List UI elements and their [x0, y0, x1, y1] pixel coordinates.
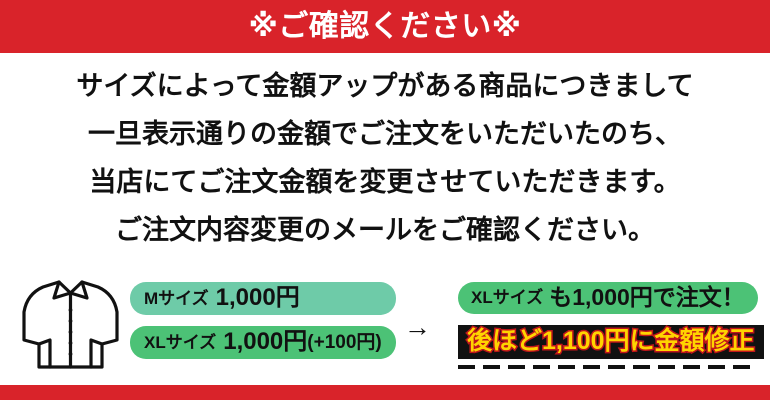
dashed-underline [458, 365, 758, 369]
size-label: XLサイズ [144, 334, 216, 351]
arrow-right-icon: → [404, 314, 431, 341]
order-note-amount: も1,000円で注文！ [549, 286, 745, 309]
price-pill-m: Mサイズ 1,000円 [130, 282, 396, 315]
notice-line: 当店にてご注文金額を変更させていただきます。 [89, 158, 680, 206]
dress-shirt-icon [18, 272, 123, 372]
size-label: XLサイズ [471, 289, 543, 306]
notice-line: ご注文内容変更のメールをご確認ください。 [115, 206, 655, 254]
size-label: Mサイズ [144, 290, 209, 307]
header-band: ※ご確認ください※ [0, 0, 770, 53]
notice-body: サイズによって金額アップがある商品につきまして 一旦表示通りの金額でご注文をいた… [0, 62, 770, 254]
price-extra: (+100円) [307, 333, 381, 352]
before-price-list: Mサイズ 1,000円 XLサイズ 1,000円 (+100円) [130, 282, 396, 359]
correction-note-text: 後ほど1,100円に金額修正 [467, 327, 755, 355]
notice-line: 一旦表示通りの金額でご注文をいただいたのち、 [88, 110, 682, 158]
page-title: ※ご確認ください※ [249, 12, 522, 42]
price-amount: 1,000円 [216, 286, 300, 310]
price-amount: 1,000円 [223, 330, 307, 354]
notice-banner: ※ご確認ください※ サイズによって金額アップがある商品につきまして 一旦表示通り… [0, 0, 770, 400]
notice-line: サイズによって金額アップがある商品につきまして [76, 62, 693, 110]
order-note-box: XLサイズ も1,000円で注文！ [458, 282, 758, 314]
price-comparison: Mサイズ 1,000円 XLサイズ 1,000円 (+100円) → XLサイズ… [0, 262, 770, 382]
price-pill-xl: XLサイズ 1,000円 (+100円) [130, 326, 396, 359]
after-price-list: XLサイズ も1,000円で注文！ 後ほど1,100円に金額修正 [458, 282, 770, 369]
correction-note-box: 後ほど1,100円に金額修正 [458, 325, 764, 359]
footer-band [0, 385, 770, 400]
